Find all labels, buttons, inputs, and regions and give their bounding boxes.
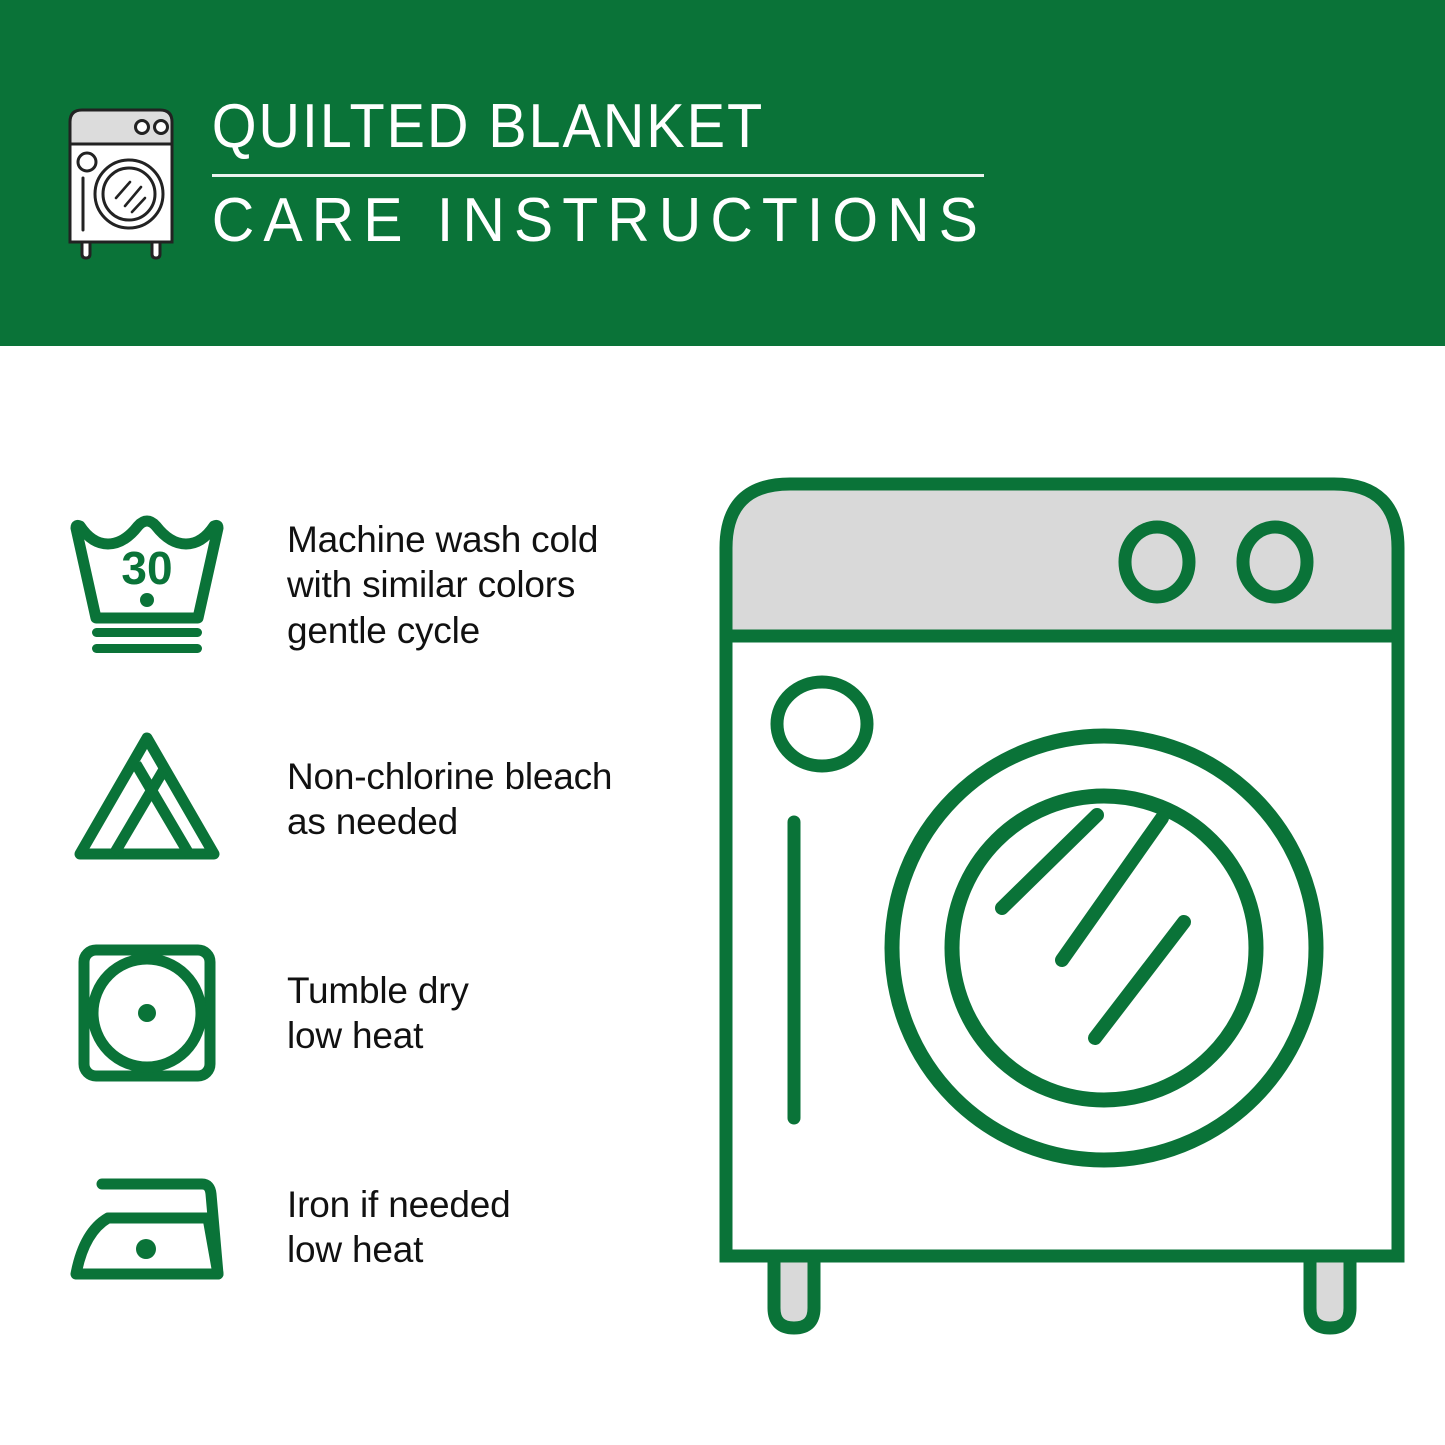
tumble-dry-low-symbol [62,933,232,1093]
header-content: QUILTED BLANKET CARE INSTRUCTIONS [62,96,1028,260]
care-row-iron: Iron if needed low heat [62,1120,702,1334]
svg-text:30: 30 [121,542,172,594]
care-row-machine-wash: 30 Machine wash cold with similar colors… [62,478,702,692]
non-chlorine-bleach-symbol [62,719,232,879]
washer-leg-left [774,1256,814,1328]
care-label-line: low heat [287,1227,510,1273]
iron-low-heat-symbol [62,1147,232,1307]
page-title: QUILTED BLANKET [208,96,971,158]
washer-leg-right [1310,1256,1350,1328]
care-label-line: Tumble dry [287,968,469,1014]
care-label-line: with similar colors [287,562,598,608]
care-label-iron: Iron if needed low heat [287,1182,510,1273]
care-row-tumble-dry: Tumble dry low heat [62,906,702,1120]
care-label-line: Machine wash cold [287,517,598,563]
header-title-group: QUILTED BLANKET CARE INSTRUCTIONS [208,96,1028,252]
care-label-bleach: Non-chlorine bleach as needed [287,754,612,845]
front-load-washing-machine-illustration [712,470,1412,1360]
care-label-machine-wash: Machine wash cold with similar colors ge… [287,517,598,654]
care-label-line: Iron if needed [287,1182,510,1228]
title-divider [212,174,984,177]
machine-wash-30-gentle-symbol: 30 [62,505,232,665]
care-row-bleach: Non-chlorine bleach as needed [62,692,702,906]
care-label-line: as needed [287,799,612,845]
washer-control-panel [726,484,1398,636]
care-label-line: Non-chlorine bleach [287,754,612,800]
care-label-tumble-dry: Tumble dry low heat [287,968,469,1059]
care-label-line: low heat [287,1013,469,1059]
page-subtitle: CARE INSTRUCTIONS [208,190,987,252]
washing-machine-icon [62,102,180,260]
care-instruction-list: 30 Machine wash cold with similar colors… [62,478,702,1334]
care-instructions-page: QUILTED BLANKET CARE INSTRUCTIONS 30 [0,0,1445,1445]
header-band: QUILTED BLANKET CARE INSTRUCTIONS [0,0,1445,346]
care-label-line: gentle cycle [287,608,598,654]
